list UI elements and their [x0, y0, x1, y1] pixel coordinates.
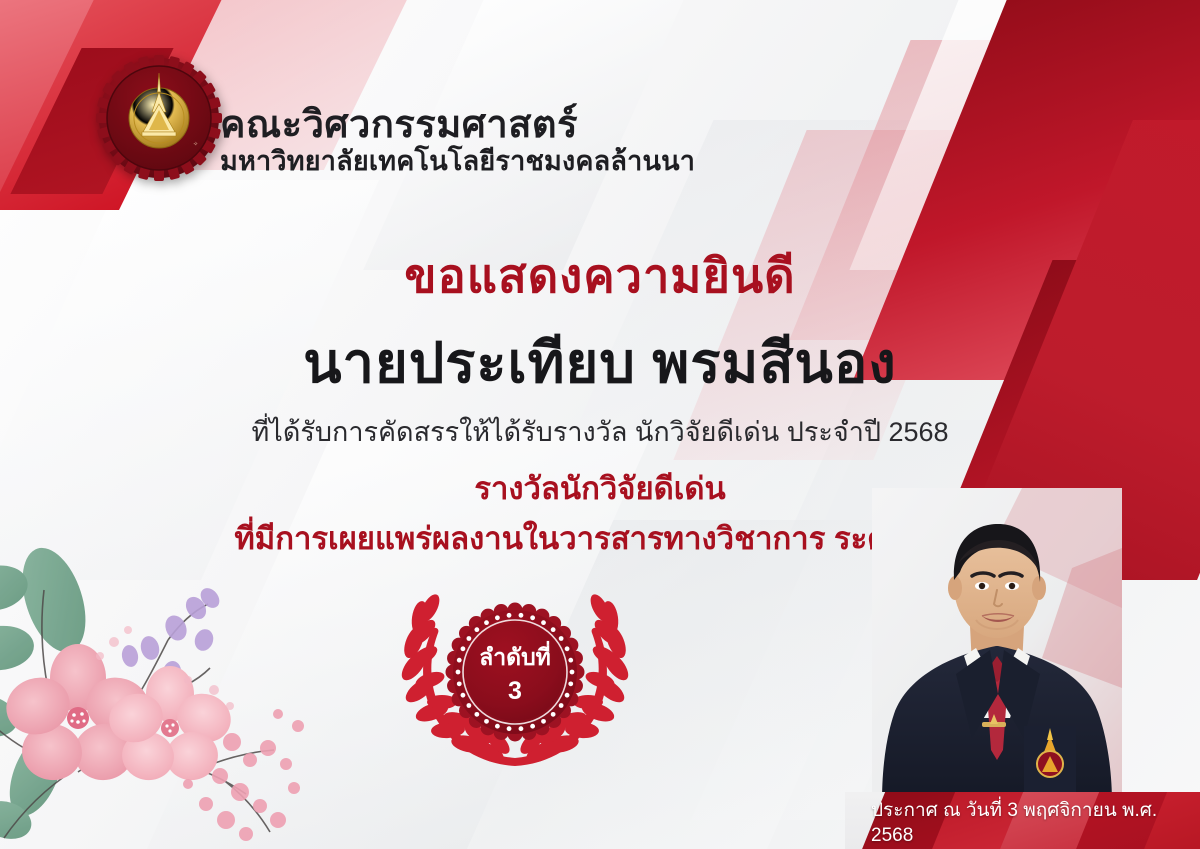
organization-header: คณะวิศวกรรมศาสตร์ มหาวิทยาลัยเทคโนโลยีรา… — [220, 106, 695, 177]
rank-badge: ลำดับที่ 3 — [398, 570, 632, 775]
certificate-poster: ม /* build g — [0, 0, 1200, 849]
award-subtitle: ที่ได้รับการคัดสรรให้ได้รับรางวัล นักวิจ… — [0, 410, 1200, 453]
faculty-name: คณะวิศวกรรมศาสตร์ — [220, 106, 695, 146]
watercolor-floral-decoration-icon — [0, 520, 322, 849]
rmutl-engineering-gear-logo-icon: ม — [96, 55, 222, 181]
recipient-portrait-photo — [872, 488, 1122, 803]
university-name: มหาวิทยาลัยเทคโนโลยีราชมงคลล้านนา — [220, 146, 695, 177]
congratulations-heading: ขอแสดงความยินดี — [0, 238, 1200, 313]
rank-badge-value: 3 — [398, 677, 632, 706]
announcement-date-text: ประกาศ ณ วันที่ 3 พฤศจิกายน พ.ศ. 2568 — [845, 792, 1200, 849]
announcement-date-bar: ประกาศ ณ วันที่ 3 พฤศจิกายน พ.ศ. 2568 — [845, 792, 1200, 849]
recipient-name: นายประเทียบ พรมสีนอง — [0, 318, 1200, 407]
rank-badge-label: ลำดับที่ — [398, 640, 632, 676]
